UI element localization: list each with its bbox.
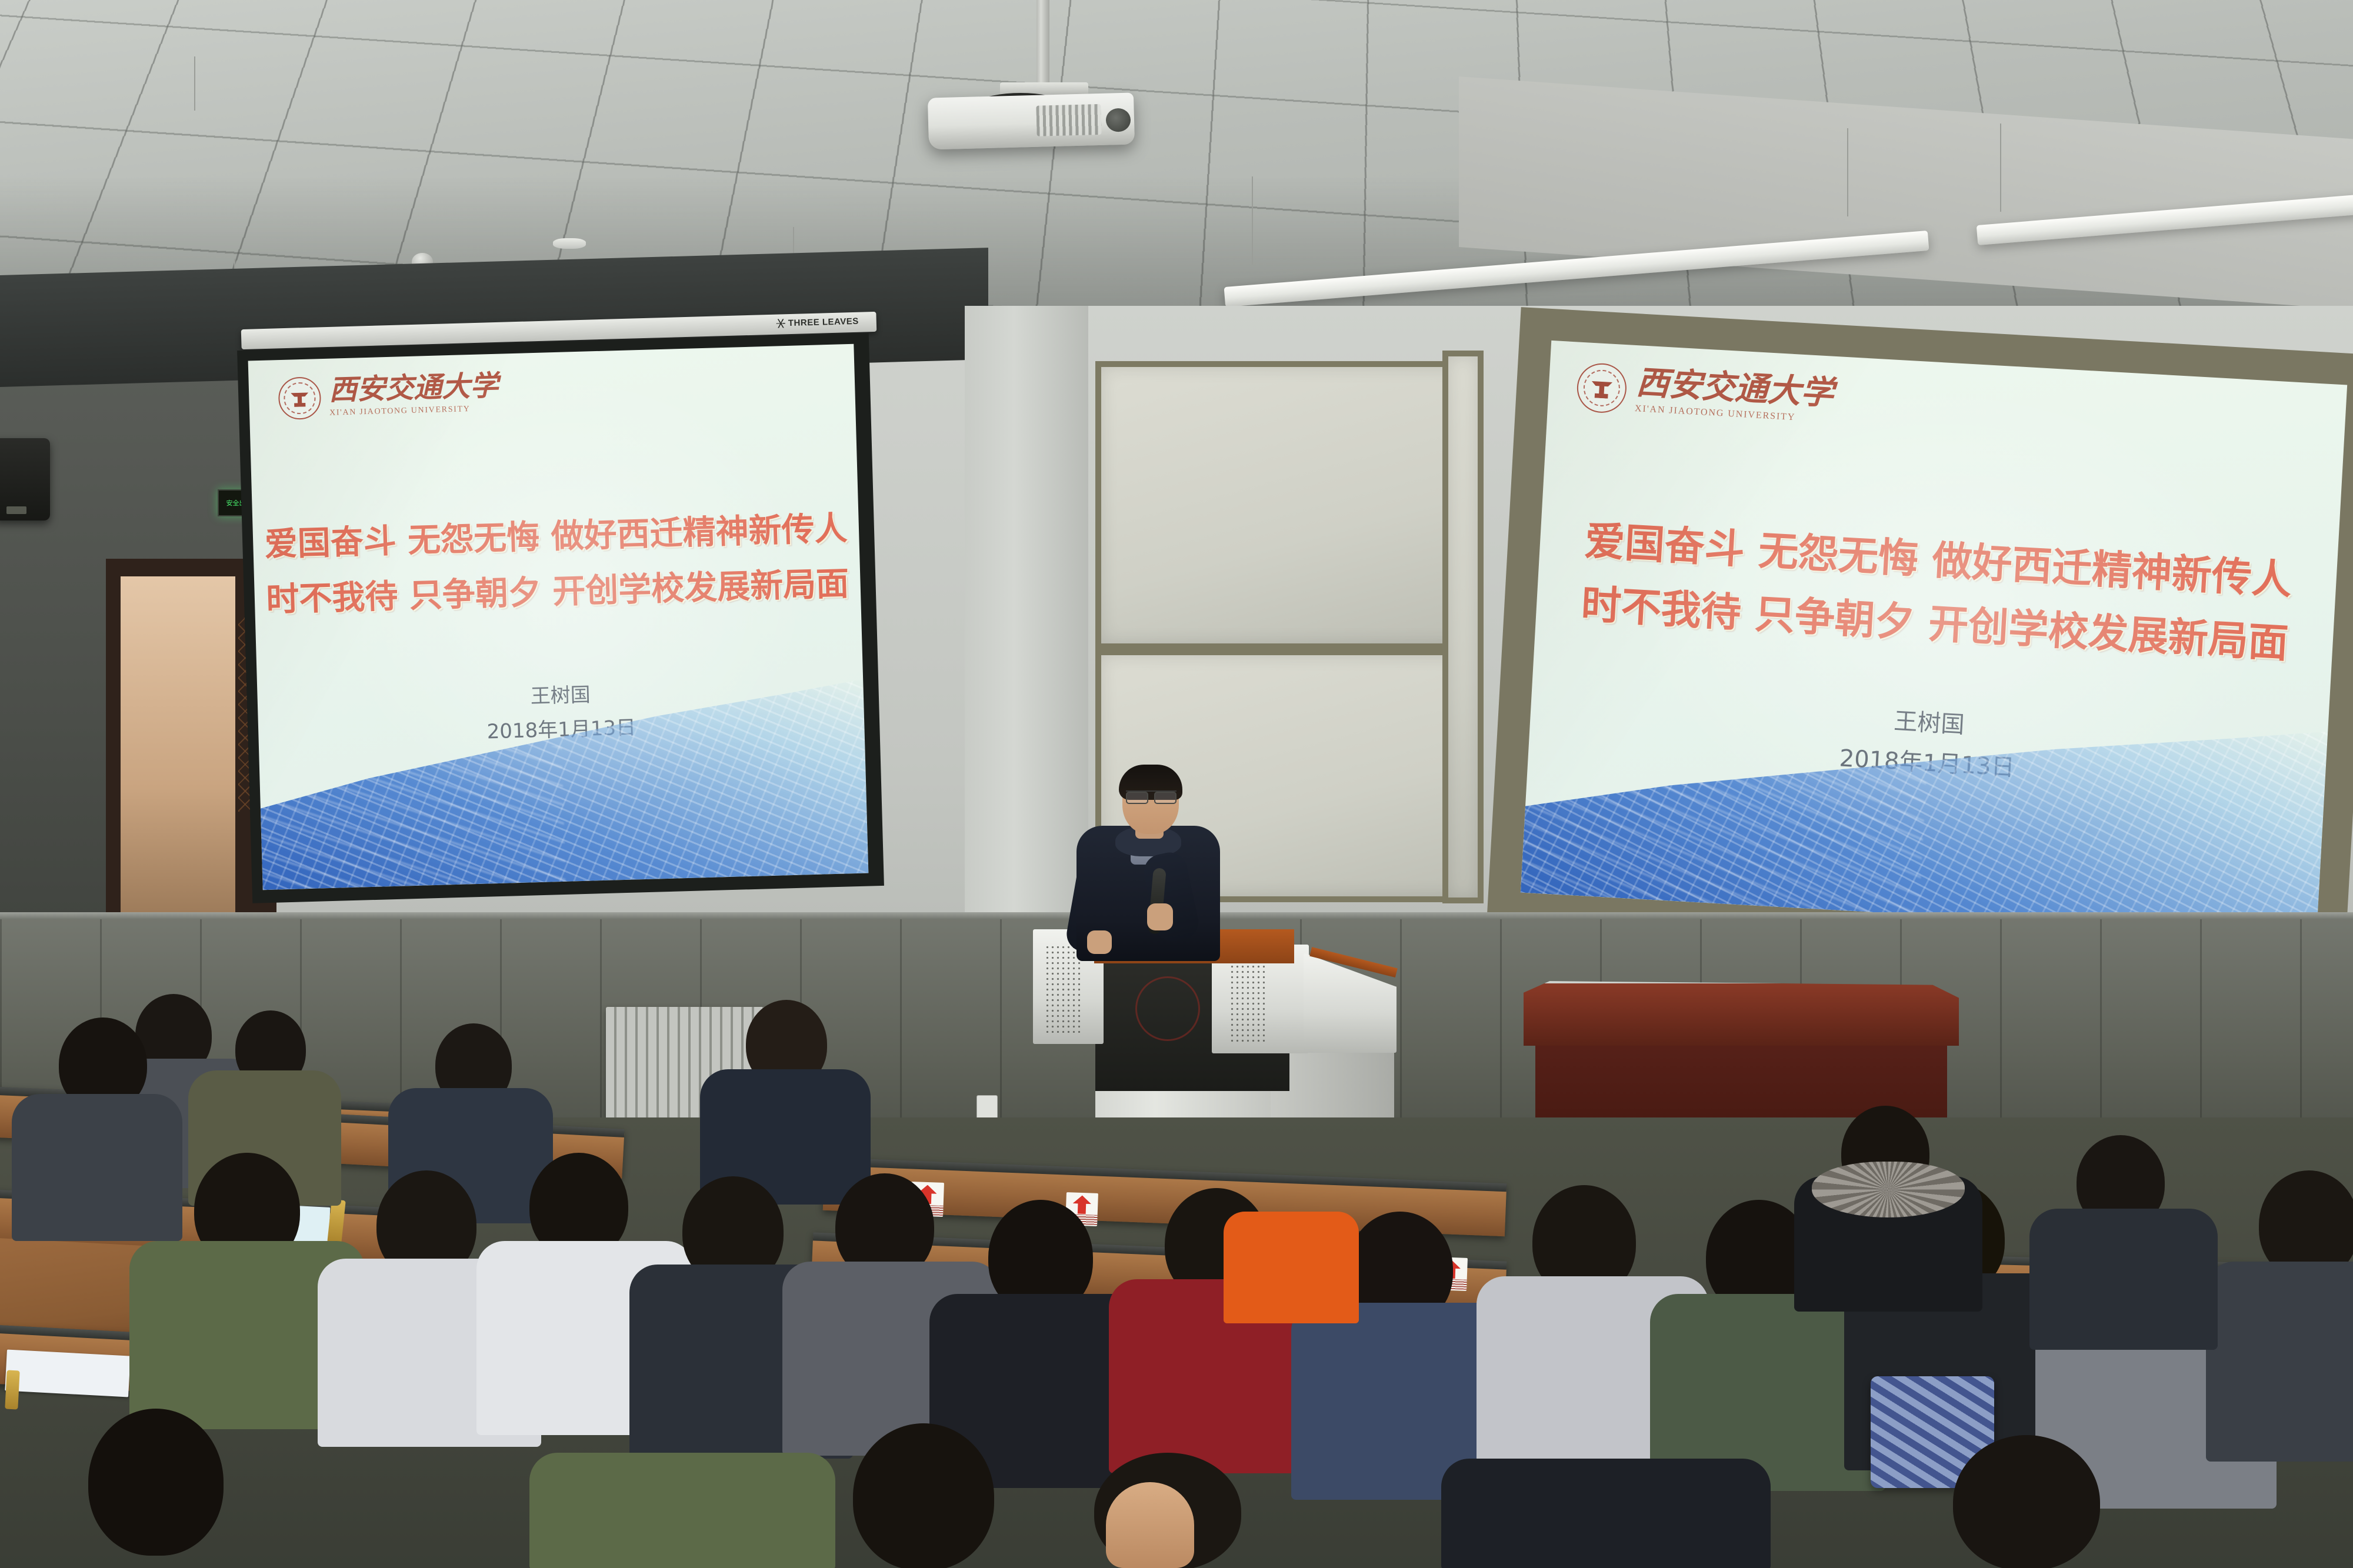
slide-logo: 西安交通大学 XI'AN JIAOTONG UNIVERSITY <box>1576 362 1835 426</box>
light-wire <box>2000 124 2001 212</box>
audience-head-foreground <box>88 1409 224 1556</box>
screen-brand-label: THREE LEAVES <box>776 316 859 329</box>
presenter-left-hand <box>1087 930 1112 954</box>
doorway-opening[interactable] <box>121 576 235 962</box>
audience-head-foreground <box>853 1423 994 1568</box>
light-wire <box>194 56 195 111</box>
mahogany-lectern-top <box>1524 981 1959 1046</box>
right-slide-surface: 西安交通大学 XI'AN JIAOTONG UNIVERSITY 爱国奋斗 无怨… <box>1521 341 2347 937</box>
clapping-hand <box>1106 1482 1194 1568</box>
lectern-speaker-grille-right <box>1229 959 1265 1044</box>
whiteboard-upper <box>1095 361 1472 649</box>
audience-body-orange-coat <box>1224 1212 1359 1323</box>
university-name-chinese: 西安交通大学 <box>1635 366 1835 411</box>
audience-body-foreground <box>529 1453 835 1568</box>
presenter-right-hand <box>1147 903 1173 930</box>
audience-body <box>2206 1262 2353 1462</box>
audience-head-foreground <box>1953 1435 2100 1568</box>
light-wire <box>1252 176 1253 265</box>
right-screen: 西安交通大学 XI'AN JIAOTONG UNIVERSITY 爱国奋斗 无怨… <box>1521 353 2353 941</box>
light-wire <box>1847 128 1848 216</box>
seal-anvil-glyph <box>291 391 309 407</box>
three-leaves-icon <box>776 319 785 328</box>
xjtu-seal-icon <box>278 376 321 420</box>
wall-column <box>965 306 1088 1000</box>
university-name-english: XI'AN JIAOTONG UNIVERSITY <box>329 404 499 418</box>
glasses-icon <box>1126 790 1176 801</box>
whiteboard-side <box>1442 351 1484 903</box>
brand-text: THREE LEAVES <box>788 316 859 328</box>
left-screen: THREE LEAVES 西安交通大学 XI'AN JIAOTONG UNIVE… <box>253 326 871 903</box>
seal-anvil-glyph <box>1591 379 1612 399</box>
university-name-chinese: 西安交通大学 <box>328 372 498 405</box>
notebook-page <box>5 1350 130 1397</box>
slide-headline-line1: 爱国奋斗 无怨无悔 做好西迁精神新传人 <box>252 505 859 569</box>
audience-body <box>12 1094 182 1241</box>
lectern-emblem-red <box>1135 976 1200 1041</box>
audience-body-foreground <box>1441 1459 1771 1568</box>
projector-lens-icon <box>1105 108 1131 132</box>
slide-headline-line2: 时不我待 只争朝夕 开创学校发展新局面 <box>254 561 861 624</box>
ceiling-projector <box>928 92 1135 149</box>
xjtu-seal-icon <box>1576 362 1628 415</box>
projector-vent <box>1036 104 1101 136</box>
red-up-arrow-icon <box>1072 1195 1091 1214</box>
left-slide-surface: 西安交通大学 XI'AN JIAOTONG UNIVERSITY 爱国奋斗 无怨… <box>248 344 869 890</box>
fur-collar <box>1812 1162 1965 1217</box>
lectern-speaker-grille-left <box>1045 945 1080 1033</box>
pen-object <box>5 1370 19 1409</box>
slide-logo: 西安交通大学 XI'AN JIAOTONG UNIVERSITY <box>278 372 499 420</box>
presenter-at-podium <box>1076 765 1224 965</box>
lecture-hall-photo: 安全出口 THREE LEAVES 西安交通大学 <box>0 0 2353 1568</box>
smoke-detector-icon <box>553 238 586 249</box>
projector-mount-pole <box>1036 0 1049 88</box>
wall-speaker <box>0 438 50 521</box>
audience-body <box>2029 1209 2218 1350</box>
